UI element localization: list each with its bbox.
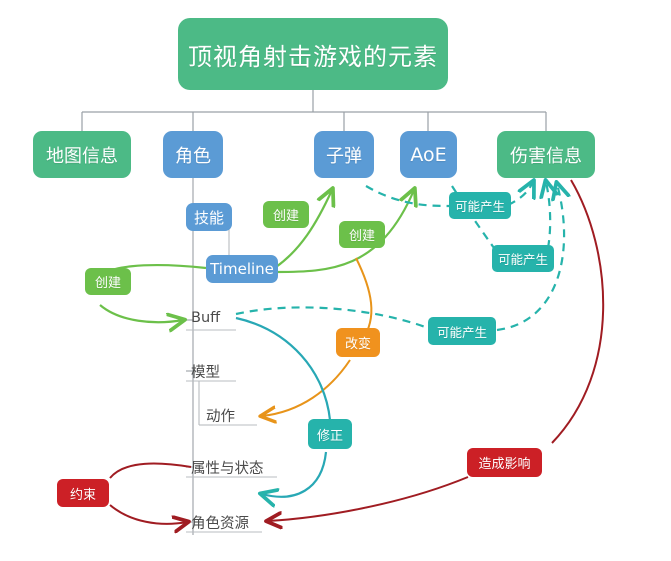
label-cause-effect[interactable]: 造成影响 (467, 448, 542, 477)
label-maybe-produce-1[interactable]: 可能产生 (449, 192, 511, 219)
label-maybe-produce-2[interactable]: 可能产生 (492, 245, 554, 272)
label-create-bullet[interactable]: 创建 (263, 201, 309, 228)
leaf-attributes-states[interactable]: 属性与状态 (191, 457, 264, 478)
label-constraint[interactable]: 约束 (57, 479, 109, 507)
edge-maybe-3-in (236, 307, 428, 328)
label-create-buff[interactable]: 创建 (85, 268, 131, 295)
edge-maybe-1-in (366, 186, 452, 206)
edge-maybe-1-out (508, 182, 533, 205)
edge-fix-in (236, 318, 330, 420)
edge-create-buff-out (100, 305, 183, 322)
leaf-model[interactable]: 模型 (191, 361, 220, 382)
character-subtree (186, 178, 229, 535)
edge-constraint-in (110, 464, 191, 478)
edge-maybe-2-out (546, 182, 550, 248)
mindmap-canvas: 顶视角射击游戏的元素 地图信息 角色 子弹 AoE 伤害信息 技能 Timeli… (0, 0, 671, 561)
tree-connectors (82, 90, 546, 131)
leaf-action[interactable]: 动作 (206, 405, 235, 426)
label-change[interactable]: 改变 (336, 328, 380, 357)
node-damage-info[interactable]: 伤害信息 (497, 131, 595, 178)
node-timeline[interactable]: Timeline (206, 255, 278, 283)
leaf-buff[interactable]: Buff (191, 310, 220, 326)
label-maybe-produce-3[interactable]: 可能产生 (428, 317, 496, 345)
edge-fix-out (262, 452, 326, 497)
node-bullet[interactable]: 子弹 (314, 131, 374, 178)
node-skill[interactable]: 技能 (186, 203, 232, 231)
edge-change-out (262, 360, 350, 416)
node-character[interactable]: 角色 (163, 131, 223, 178)
label-fix[interactable]: 修正 (308, 419, 352, 449)
label-create-aoe[interactable]: 创建 (339, 221, 385, 248)
node-map-info[interactable]: 地图信息 (33, 131, 131, 178)
edge-cause-effect-in (552, 180, 603, 443)
root-node[interactable]: 顶视角射击游戏的元素 (178, 18, 448, 90)
node-aoe[interactable]: AoE (400, 131, 457, 178)
edge-cause-effect-out (268, 477, 468, 521)
edge-constraint-out (110, 505, 187, 524)
leaf-character-resource[interactable]: 角色资源 (191, 512, 249, 533)
